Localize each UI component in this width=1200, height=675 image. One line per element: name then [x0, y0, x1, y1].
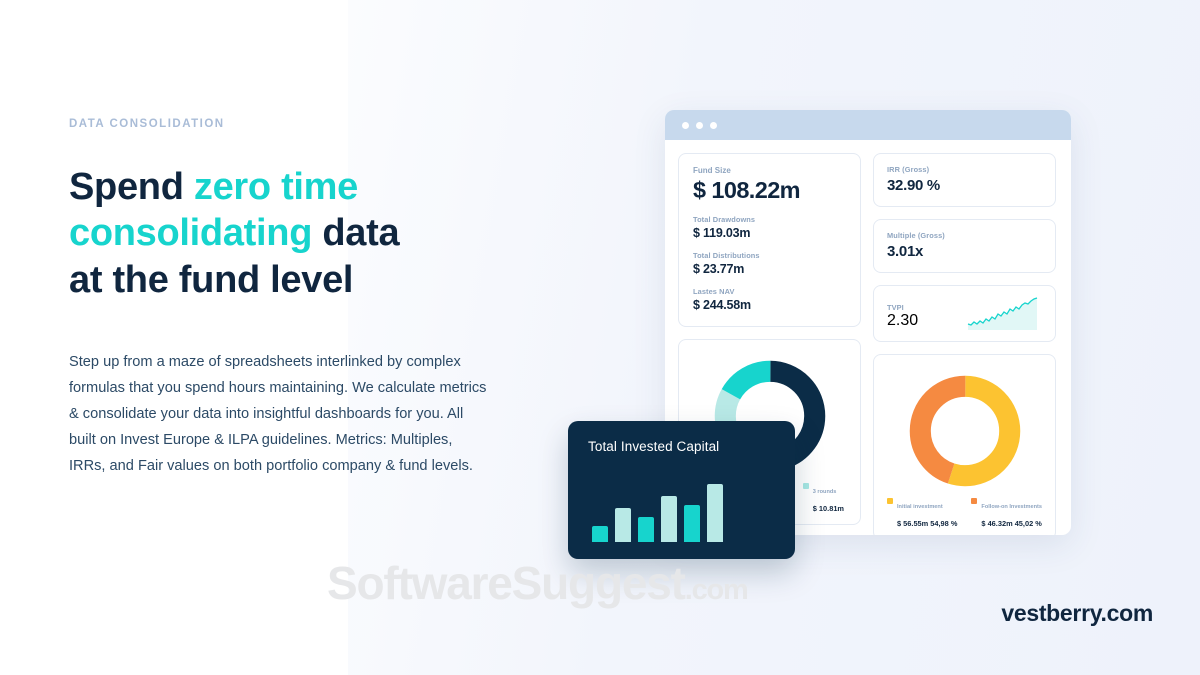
metric-total-distributions: Total Distributions $ 23.77m — [693, 251, 846, 276]
headline-accent-2: consolidating — [69, 212, 312, 254]
bar-2 — [638, 517, 654, 542]
dashboard-right-column: IRR (Gross) 32.90 % Multiple (Gross) 3.0… — [873, 153, 1056, 535]
browser-titlebar — [665, 110, 1071, 140]
legend-swatch-icon — [971, 498, 977, 504]
bar-4 — [684, 505, 700, 542]
headline-segment-3: at the fund level — [69, 259, 353, 301]
footer-brand: vestberry.com — [1001, 600, 1153, 627]
bar-1 — [615, 508, 631, 542]
fund-size-value: $ 108.22m — [693, 177, 846, 204]
metric-value: $ 119.03m — [693, 226, 846, 240]
kpi-label: TVPI — [887, 303, 918, 312]
legend-value: $ 46.32m 45,02 % — [981, 519, 1041, 528]
investments-donut-svg — [906, 372, 1024, 490]
eyebrow-label: DATA CONSOLIDATION — [69, 118, 499, 130]
metric-label: Total Distributions — [693, 251, 846, 260]
window-maximize-dot-icon[interactable] — [710, 122, 717, 129]
overlay-card-title: Total Invested Capital — [588, 439, 775, 454]
metric-value: $ 244.58m — [693, 298, 846, 312]
metric-value: $ 23.77m — [693, 262, 846, 276]
metric-total-drawdowns: Total Drawdowns $ 119.03m — [693, 215, 846, 240]
kpi-label: Multiple (Gross) — [887, 231, 1042, 240]
tvpi-sparkline-chart — [967, 297, 1045, 331]
legend-item: 3 rounds $ 10.81m — [803, 480, 844, 516]
total-invested-capital-bar-chart — [588, 468, 775, 542]
headline-accent-1: zero time — [194, 166, 358, 208]
kpi-label: IRR (Gross) — [887, 165, 1042, 174]
page-title: Spend zero time consolidating data at th… — [69, 164, 499, 303]
window-minimize-dot-icon[interactable] — [696, 122, 703, 129]
kpi-value: 2.30 — [887, 312, 918, 330]
fund-size-card[interactable]: Fund Size $ 108.22m Total Drawdowns $ 11… — [678, 153, 861, 327]
fund-size-label: Fund Size — [693, 166, 846, 175]
investments-donut-legend: Initial investment $ 56.55m 54,98 % Foll… — [886, 495, 1043, 531]
metric-label: Lastes NAV — [693, 287, 846, 296]
bar-0 — [592, 526, 608, 542]
kpi-value: 3.01x — [887, 243, 1042, 260]
watermark-tld: .com — [685, 574, 748, 606]
watermark-name: SoftwareSuggest — [327, 557, 685, 609]
kpi-card-irr[interactable]: IRR (Gross) 32.90 % — [873, 153, 1056, 207]
tvpi-text-block: TVPI 2.30 — [887, 303, 918, 331]
legend-name: Follow-on Investments — [981, 504, 1042, 510]
legend-swatch-icon — [887, 498, 893, 504]
legend-item: Follow-on Investments $ 46.32m 45,02 % — [971, 495, 1042, 531]
investments-donut-card[interactable]: Initial investment $ 56.55m 54,98 % Foll… — [873, 354, 1056, 535]
bar-3 — [661, 496, 677, 542]
window-close-dot-icon[interactable] — [682, 122, 689, 129]
legend-item: Initial investment $ 56.55m 54,98 % — [887, 495, 957, 531]
headline-segment-1: Spend — [69, 166, 194, 208]
kpi-card-multiple[interactable]: Multiple (Gross) 3.01x — [873, 219, 1056, 273]
hero-body-text: Step up from a maze of spreadsheets inte… — [69, 349, 487, 479]
metric-label: Total Drawdowns — [693, 215, 846, 224]
hero-copy-block: DATA CONSOLIDATION Spend zero time conso… — [69, 118, 499, 479]
legend-name: 3 rounds — [813, 489, 837, 495]
metric-lastes-nav: Lastes NAV $ 244.58m — [693, 287, 846, 312]
legend-value: $ 10.81m — [813, 504, 844, 513]
bar-5 — [707, 484, 723, 542]
kpi-card-tvpi[interactable]: TVPI 2.30 — [873, 285, 1056, 342]
kpi-value: 32.90 % — [887, 177, 1042, 194]
watermark: SoftwareSuggest.com — [327, 556, 748, 610]
headline-segment-2: data — [312, 212, 399, 254]
legend-value: $ 56.55m 54,98 % — [897, 519, 957, 528]
legend-name: Initial investment — [897, 504, 943, 510]
total-invested-capital-overlay-card[interactable]: Total Invested Capital — [568, 421, 795, 559]
investments-donut-chart — [886, 367, 1043, 495]
legend-swatch-icon — [803, 483, 809, 489]
